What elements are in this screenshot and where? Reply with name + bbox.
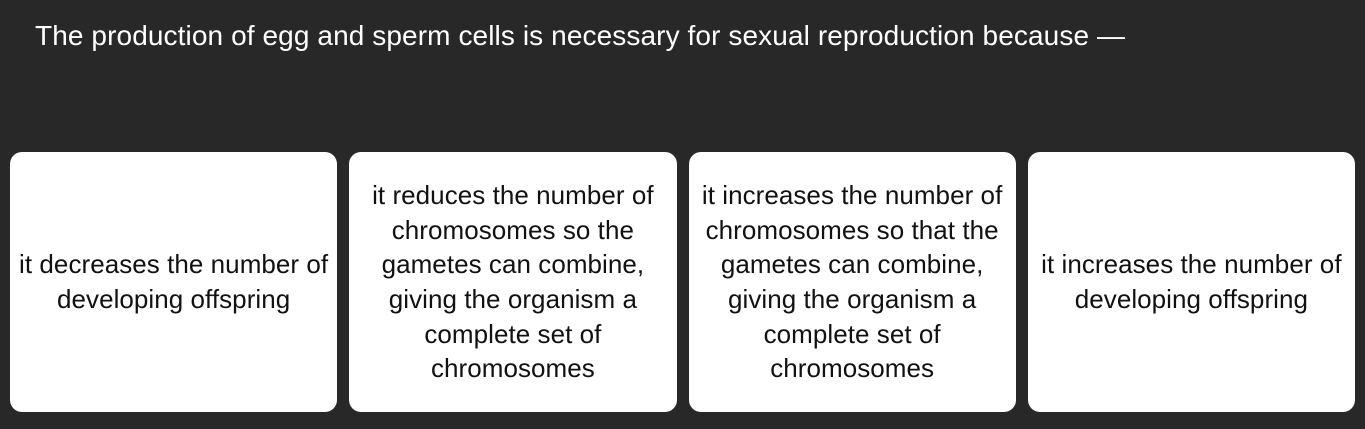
answer-choice-label-2: it reduces the number of chromosomes so … [357, 178, 668, 385]
answer-choice-card-2[interactable]: it reduces the number of chromosomes so … [349, 152, 676, 412]
answer-choice-label-3: it increases the number of chromosomes s… [697, 178, 1008, 385]
question-text: The production of egg and sperm cells is… [35, 18, 1335, 53]
answer-choices-row: it decreases the number of developing of… [0, 152, 1365, 429]
answer-choice-card-3[interactable]: it increases the number of chromosomes s… [689, 152, 1016, 412]
answer-choice-card-1[interactable]: it decreases the number of developing of… [10, 152, 337, 412]
answer-choice-card-4[interactable]: it increases the number of developing of… [1028, 152, 1355, 412]
quiz-screen: The production of egg and sperm cells is… [0, 0, 1365, 429]
answer-choice-label-1: it decreases the number of developing of… [18, 247, 329, 316]
answer-choice-label-4: it increases the number of developing of… [1036, 247, 1347, 316]
question-area: The production of egg and sperm cells is… [0, 0, 1365, 152]
